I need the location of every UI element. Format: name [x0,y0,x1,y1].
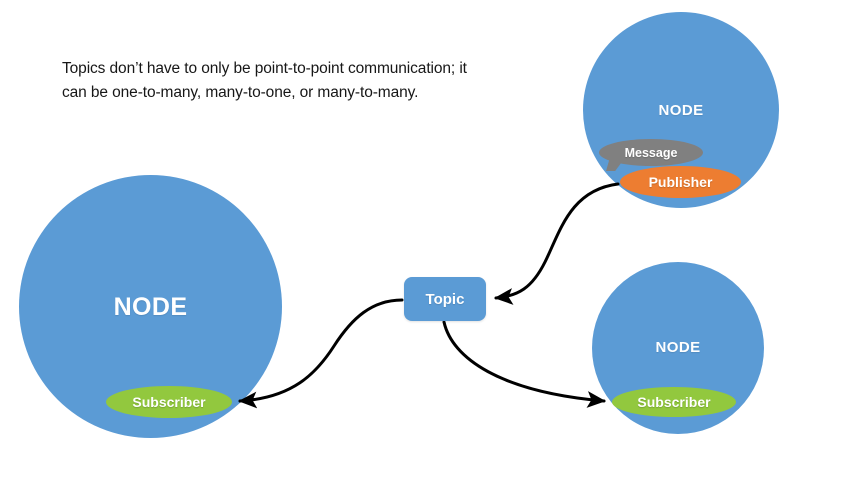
caption-text: Topics don’t have to only be point-to-po… [62,57,482,105]
topic-box: Topic [404,277,486,321]
diagram-canvas: Topics don’t have to only be point-to-po… [0,0,854,480]
node-top-right-label: NODE [583,102,779,119]
node-bottom-right-label: NODE [592,339,764,356]
arrow-topic-to-subscriber-bottom-right [444,322,604,401]
arrow-publisher-to-topic [496,184,618,298]
subscriber-endpoint-left: Subscriber [106,386,232,418]
node-left-label: NODE [19,293,282,322]
subscriber-endpoint-bottom-right: Subscriber [612,387,736,417]
message-bubble: Message [599,139,703,166]
publisher-endpoint: Publisher [620,166,741,198]
